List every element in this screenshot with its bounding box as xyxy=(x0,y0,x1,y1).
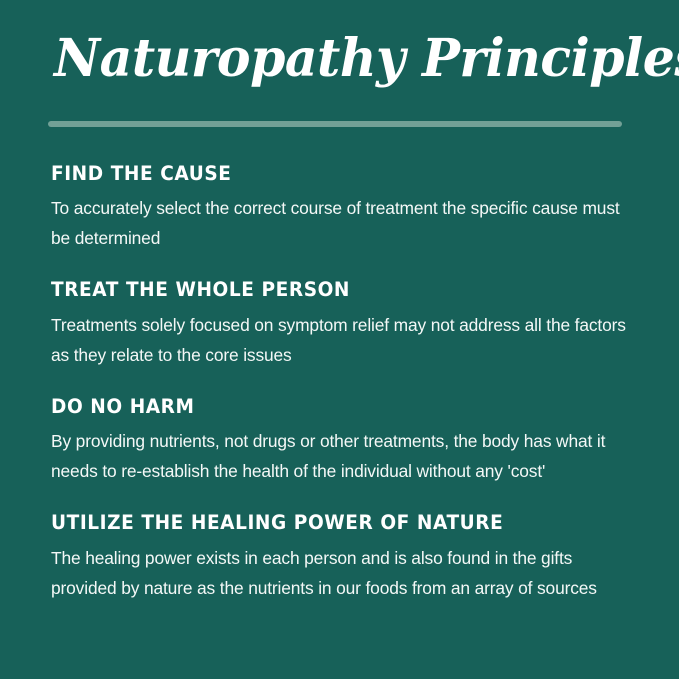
principle-heading: DO NO HARM xyxy=(51,396,604,417)
principle-heading: FIND THE CAUSE xyxy=(51,163,604,184)
principle-item-utilize-the-healing-power-of-nature: UTILIZE THE HEALING POWER OF NATURE The … xyxy=(51,512,633,602)
principle-heading: UTILIZE THE HEALING POWER OF NATURE xyxy=(51,512,604,533)
principles-list: FIND THE CAUSE To accurately select the … xyxy=(51,163,633,603)
principle-description: Treatments solely focused on symptom rel… xyxy=(51,310,633,370)
principle-item-do-no-harm: DO NO HARM By providing nutrients, not d… xyxy=(51,396,633,486)
poster-canvas: Naturopathy Principles FIND THE CAUSE To… xyxy=(0,0,679,679)
principle-item-treat-the-whole-person: TREAT THE WHOLE PERSON Treatments solely… xyxy=(51,279,633,369)
page-title: Naturopathy Principles xyxy=(54,28,679,89)
principle-heading: TREAT THE WHOLE PERSON xyxy=(51,279,604,300)
title-divider-rule xyxy=(48,121,622,127)
principle-item-find-the-cause: FIND THE CAUSE To accurately select the … xyxy=(51,163,633,253)
principle-description: To accurately select the correct course … xyxy=(51,193,633,253)
principle-description: The healing power exists in each person … xyxy=(51,543,633,603)
principle-description: By providing nutrients, not drugs or oth… xyxy=(51,426,633,486)
